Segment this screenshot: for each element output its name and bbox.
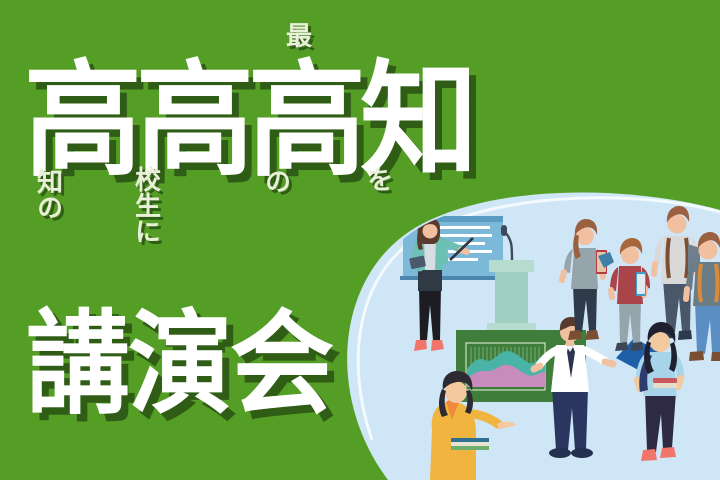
presentation-screen bbox=[400, 216, 506, 280]
microphone-icon bbox=[501, 225, 512, 260]
page-title-sub: 講演会 bbox=[26, 308, 332, 420]
walking-student-4 bbox=[686, 232, 720, 361]
walking-student-5 bbox=[636, 322, 684, 461]
seated-woman-yellow bbox=[430, 371, 516, 480]
female-lecturer bbox=[409, 218, 473, 351]
ruby-annotation-wo: を bbox=[364, 166, 391, 192]
green-chalkboard bbox=[456, 330, 586, 402]
walking-student-3 bbox=[654, 206, 700, 340]
blue-disc bbox=[347, 192, 720, 480]
page-title-main: 高高高知 bbox=[24, 58, 472, 183]
ruby-annotation-kouseini: 校生に bbox=[132, 166, 159, 244]
chalkboard-area-chart bbox=[467, 347, 545, 387]
poster-canvas: 高高高知 最 知の 校生に の を 講演会 bbox=[0, 0, 720, 480]
walking-student-1 bbox=[562, 219, 614, 340]
ruby-annotation-chino: 知の bbox=[34, 168, 61, 220]
walking-student-2 bbox=[610, 238, 650, 351]
books-stack bbox=[451, 438, 489, 450]
ruby-annotation-no: の bbox=[262, 168, 289, 194]
podium bbox=[487, 225, 536, 332]
ruby-annotation-sai: 最 bbox=[283, 22, 310, 48]
male-presenter bbox=[534, 317, 660, 458]
